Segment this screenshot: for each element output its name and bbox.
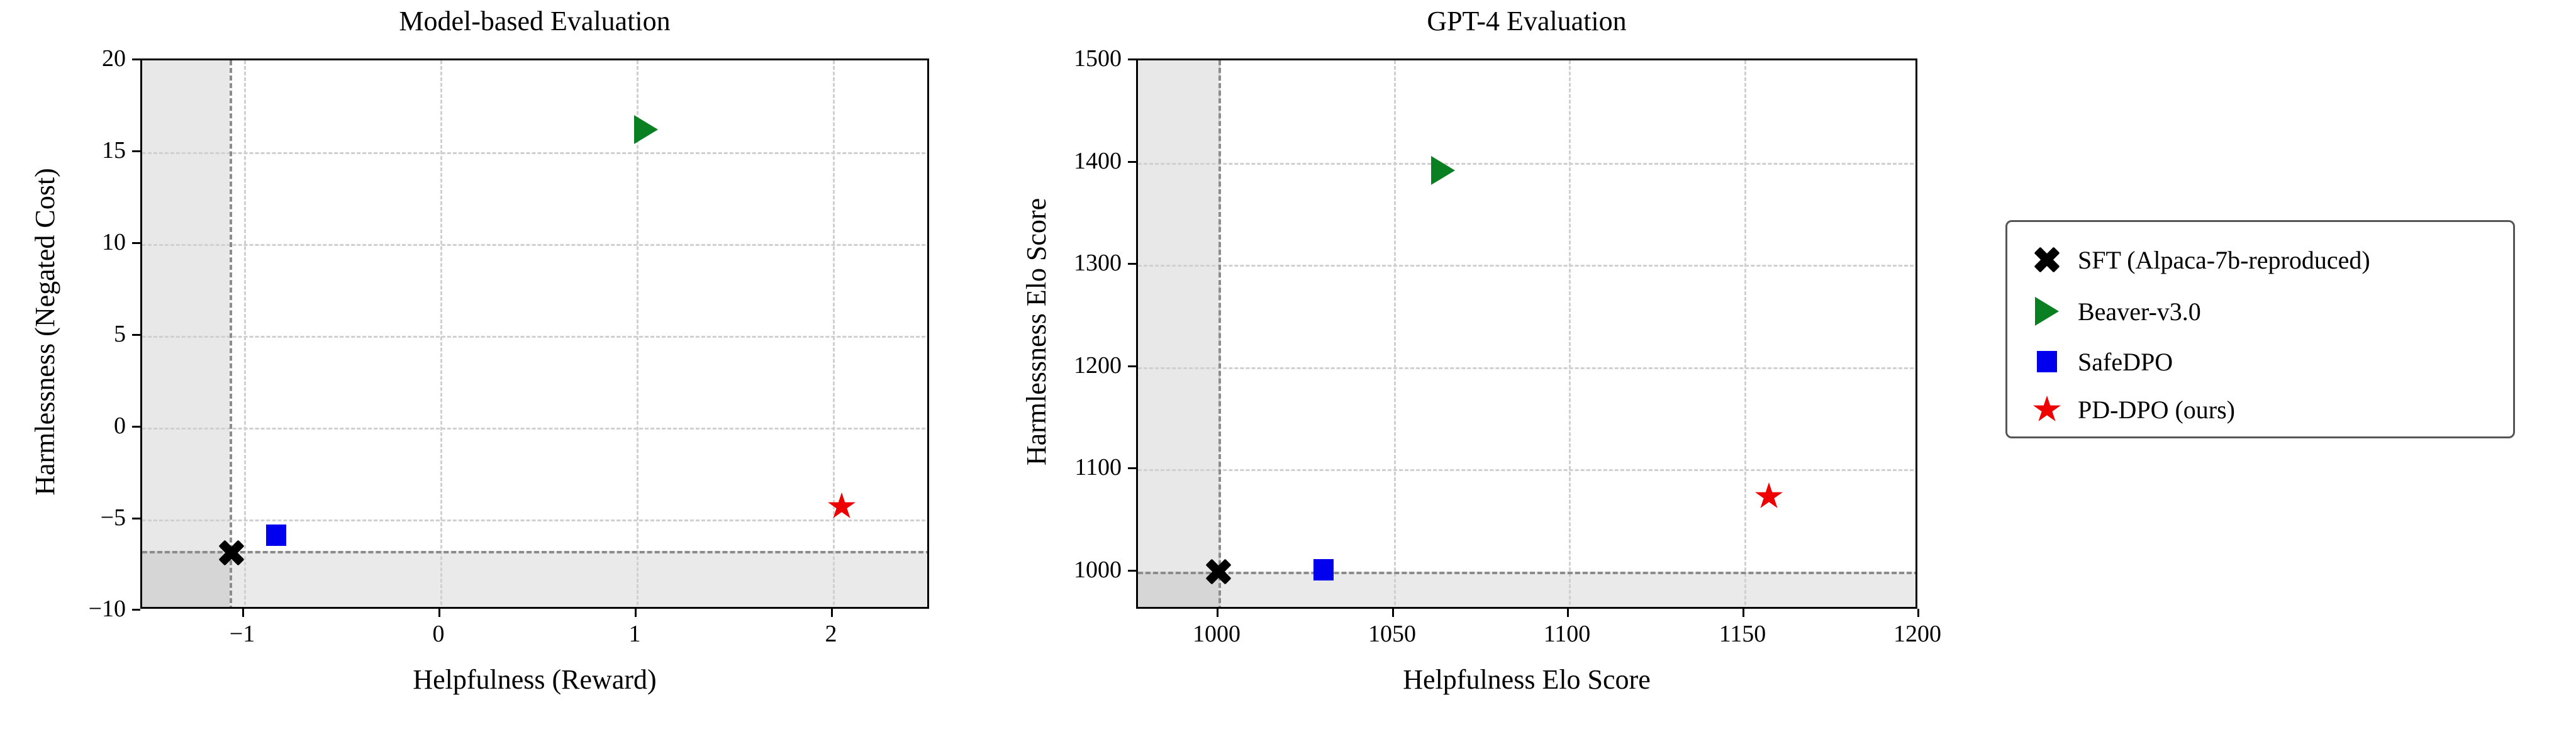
gridline-x--1 [244, 60, 246, 609]
datapoint-sft-left[interactable] [216, 538, 247, 568]
datapoint-beaver-right[interactable] [1431, 156, 1455, 185]
ytick-mark [132, 518, 140, 519]
ytick-mark [1128, 365, 1136, 367]
y-axis-label-left: Harmlessness (Negated Cost) [29, 57, 61, 607]
gridline-y-10 [142, 244, 929, 246]
ytick-mark [1128, 263, 1136, 265]
ytick-mark [1128, 58, 1136, 60]
xtick-label: 0 [433, 620, 445, 648]
ytick-mark [132, 58, 140, 60]
datapoint-sft-right[interactable] [1203, 557, 1234, 587]
shade-below-baseline-left [142, 551, 929, 609]
gridline-y-1200 [1138, 367, 1917, 369]
panel-title-right: GPT-4 Evaluation [1136, 5, 1917, 37]
y-axis-label-right: Harmlessness Elo Score [1020, 57, 1052, 607]
ytick-mark [132, 242, 140, 244]
shade-left-of-baseline-right [1138, 60, 1218, 609]
xtick-mark [1917, 609, 1919, 617]
series-legend: SFT (Alpaca-7b-reproduced) Beaver-v3.0 S… [2005, 220, 2515, 438]
x-axis-label-right: Helpfulness Elo Score [1136, 663, 1917, 696]
shade-below-baseline-right [1138, 572, 1917, 609]
ytick-label: 1200 [1019, 352, 1122, 379]
xtick-mark [1742, 609, 1744, 617]
gridline-x-1100 [1569, 60, 1571, 609]
ytick-mark [1128, 467, 1136, 469]
panel-gpt4-evaluation: GPT-4 Evaluation Harmlessness Elo Score … [975, 0, 1950, 744]
ytick-label: 1000 [1019, 556, 1122, 584]
xtick-mark [242, 609, 244, 617]
legend-item-sft[interactable]: SFT (Alpaca-7b-reproduced) [2025, 241, 2370, 279]
ytick-label: 5 [60, 320, 126, 348]
shade-left-of-baseline-left [142, 60, 230, 609]
xtick-label: 1050 [1368, 620, 1416, 648]
ytick-mark [132, 334, 140, 336]
datapoint-pddpo-right[interactable] [1755, 482, 1783, 510]
ytick-label: 0 [60, 412, 126, 440]
gridline-y-15 [142, 152, 929, 154]
xtick-label: 1150 [1719, 620, 1766, 648]
legend-item-safedpo[interactable]: SafeDPO [2025, 343, 2173, 380]
figure-root: Model-based Evaluation Harmlessness (Neg… [0, 0, 2576, 744]
xtick-label: 1100 [1544, 620, 1591, 648]
datapoint-safedpo-left[interactable] [266, 525, 286, 546]
legend-item-pddpo[interactable]: PD-DPO (ours) [2025, 391, 2235, 428]
x-axis-label-left: Helpfulness (Reward) [140, 663, 929, 696]
square-icon [2025, 344, 2069, 379]
gridline-x-1150 [1744, 60, 1746, 609]
gridline-y-1300 [1138, 265, 1917, 267]
legend-item-label: PD-DPO (ours) [2078, 395, 2235, 425]
legend-item-beaver[interactable]: Beaver-v3.0 [2025, 292, 2201, 330]
gridline-x-1050 [1394, 60, 1396, 609]
ytick-label: −5 [60, 504, 126, 531]
ytick-label: 1300 [1019, 249, 1122, 277]
star-icon [2025, 392, 2069, 427]
panel-model-based-evaluation: Model-based Evaluation Harmlessness (Neg… [0, 0, 975, 744]
gridline-y-5 [142, 336, 929, 338]
ytick-label: 20 [60, 45, 126, 72]
ytick-mark [1128, 570, 1136, 572]
ytick-mark [132, 150, 140, 152]
ytick-label: 1500 [1019, 45, 1122, 72]
xtick-label: 1200 [1893, 620, 1941, 648]
plot-area-right [1136, 58, 1917, 609]
x-cross-icon [2025, 242, 2069, 277]
xtick-label: 1 [629, 620, 641, 648]
right-triangle-icon [2025, 294, 2069, 329]
ytick-label: 15 [60, 136, 126, 164]
ytick-label: 10 [60, 228, 126, 256]
ytick-mark [1128, 161, 1136, 163]
ytick-label: 1400 [1019, 147, 1122, 175]
plot-area-left [140, 58, 929, 609]
gridline-y--5 [142, 519, 929, 521]
gridline-y-1400 [1138, 163, 1917, 165]
legend-item-label: SafeDPO [2078, 347, 2173, 377]
xtick-label: 2 [825, 620, 837, 648]
datapoint-safedpo-right[interactable] [1313, 559, 1334, 580]
ytick-label: −10 [44, 595, 126, 623]
panel-title-left: Model-based Evaluation [140, 5, 929, 37]
legend-item-label: Beaver-v3.0 [2078, 297, 2201, 326]
xtick-mark [1392, 609, 1394, 617]
reference-line-horizontal-left [142, 551, 929, 553]
gridline-y-0 [142, 428, 929, 430]
reference-line-horizontal-right [1138, 572, 1917, 574]
gridline-y-1100 [1138, 469, 1917, 471]
xtick-mark [1567, 609, 1569, 617]
gridline-x-2 [833, 60, 835, 609]
xtick-mark [635, 609, 637, 617]
ytick-mark [132, 609, 140, 611]
gridline-x-0 [440, 60, 442, 609]
ytick-label: 1100 [1019, 453, 1122, 481]
reference-line-vertical-left [230, 60, 232, 609]
xtick-mark [1217, 609, 1218, 617]
datapoint-pddpo-left[interactable] [828, 492, 856, 520]
xtick-mark [438, 609, 440, 617]
datapoint-beaver-left[interactable] [634, 115, 658, 144]
xtick-label: −1 [230, 620, 255, 648]
ytick-mark [132, 426, 140, 428]
legend-item-label: SFT (Alpaca-7b-reproduced) [2078, 245, 2370, 275]
xtick-mark [831, 609, 833, 617]
xtick-label: 1000 [1193, 620, 1241, 648]
reference-line-vertical-right [1218, 60, 1221, 609]
